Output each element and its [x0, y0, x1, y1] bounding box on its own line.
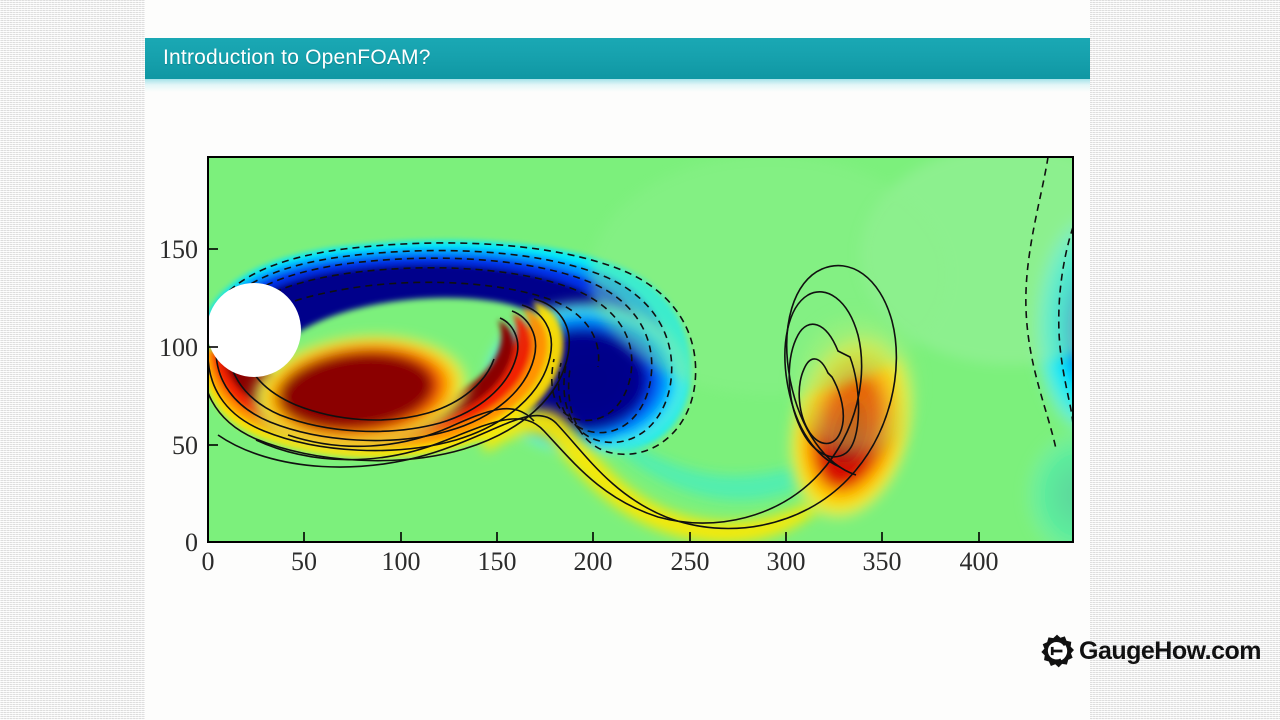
x-tick-label: 100	[382, 547, 421, 576]
gear-gauge-icon	[1040, 634, 1074, 668]
y-tick-label: 150	[159, 235, 198, 264]
y-tick-label: 100	[159, 333, 198, 362]
slide-title-bar: Introduction to OpenFOAM?	[145, 38, 1090, 79]
logo-text: GaugeHow.com	[1079, 637, 1261, 666]
x-tick-label: 300	[767, 547, 806, 576]
x-tick-label: 0	[202, 547, 215, 576]
page-title: Introduction to OpenFOAM?	[163, 46, 431, 70]
y-tick-labels: 0 50 100 150	[159, 235, 198, 557]
x-tick-label: 250	[671, 547, 710, 576]
gaugehow-logo: GaugeHow.com	[1040, 634, 1261, 668]
y-tick-label: 50	[172, 431, 198, 460]
x-tick-labels: 0 50 100 150 200 250 300 350 400	[202, 547, 999, 576]
background-gradation	[590, 145, 1090, 395]
x-tick-label: 150	[478, 547, 517, 576]
x-tick-label: 400	[960, 547, 999, 576]
vorticity-contour-figure: 0 50 100 150 200 250 300 350 400 0 50 10…	[150, 135, 1090, 585]
x-tick-label: 350	[863, 547, 902, 576]
plot-area	[201, 145, 1090, 565]
cylinder-obstacle	[207, 283, 301, 377]
slide-root: Introduction to OpenFOAM?	[0, 0, 1280, 720]
x-tick-label: 50	[291, 547, 317, 576]
x-tick-label: 200	[574, 547, 613, 576]
y-tick-label: 0	[185, 528, 198, 557]
